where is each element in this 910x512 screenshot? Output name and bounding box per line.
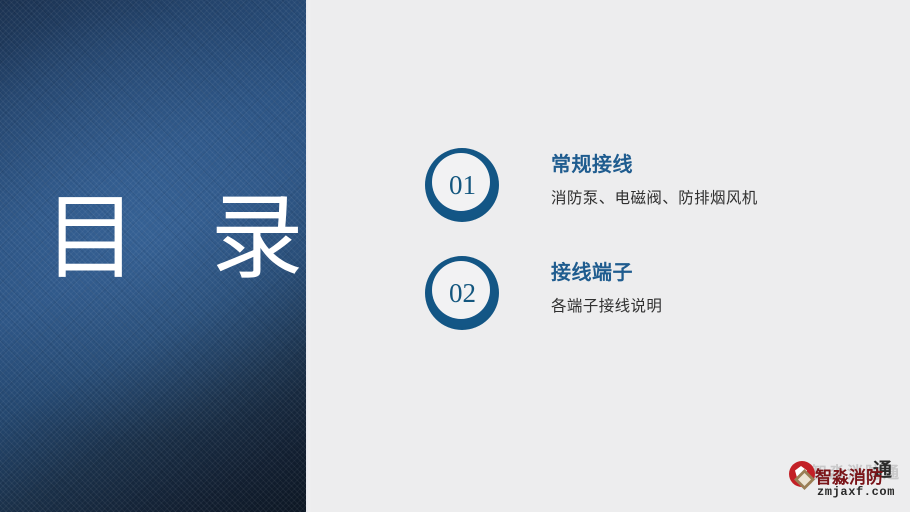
number-badge-02: 02: [425, 256, 499, 330]
toc-entry-02[interactable]: 02 接线端子 各端子接线说明: [425, 256, 662, 330]
toc-text-block-02: 接线端子 各端子接线说明: [551, 256, 662, 318]
badge-number: 02: [425, 256, 499, 330]
badge-number: 01: [425, 148, 499, 222]
title-panel: 目 录: [0, 0, 306, 512]
number-badge-01: 01: [425, 148, 499, 222]
toc-subtitle: 各端子接线说明: [551, 296, 662, 318]
toc-entry-01[interactable]: 01 常规接线 消防泵、电磁阀、防排烟风机: [425, 148, 758, 222]
page-title: 目 录: [44, 186, 284, 290]
toc-subtitle: 消防泵、电磁阀、防排烟风机: [551, 188, 758, 210]
slide-canvas: 目 录 01 常规接线 消防泵、电磁阀、防排烟风机 02 接线端子 各端子接线说…: [0, 0, 910, 512]
toc-title[interactable]: 接线端子: [551, 260, 662, 286]
watermark-url: zmjaxf.com: [817, 486, 895, 499]
toc-text-block-01: 常规接线 消防泵、电磁阀、防排烟风机: [551, 148, 758, 210]
toc-title[interactable]: 常规接线: [551, 152, 758, 178]
watermark: 智淼消防通 通 智淼消防 zmjaxf.com: [789, 458, 905, 506]
toc-content-area: 01 常规接线 消防泵、电磁阀、防排烟风机 02 接线端子 各端子接线说明: [311, 0, 910, 512]
